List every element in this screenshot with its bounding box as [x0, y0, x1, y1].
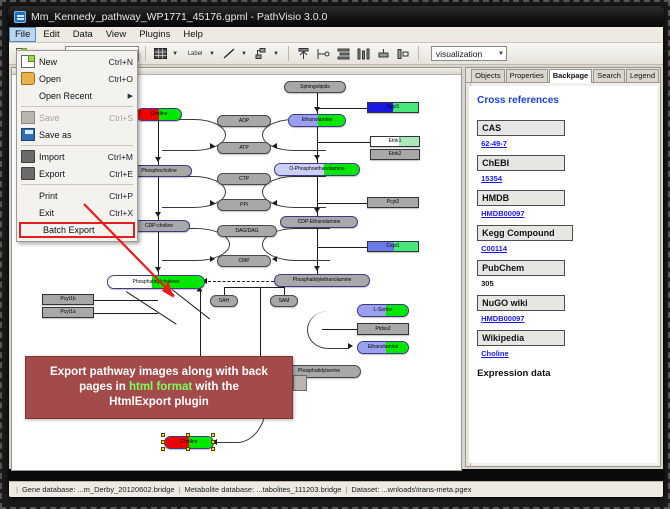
pathvisio-window: Mm_Kennedy_pathway_WP1771_45176.gpml - P…	[8, 6, 664, 498]
screenshot-root: Mm_Kennedy_pathway_WP1771_45176.gpml - P…	[0, 0, 670, 509]
callout-arrow-icon	[8, 6, 664, 498]
